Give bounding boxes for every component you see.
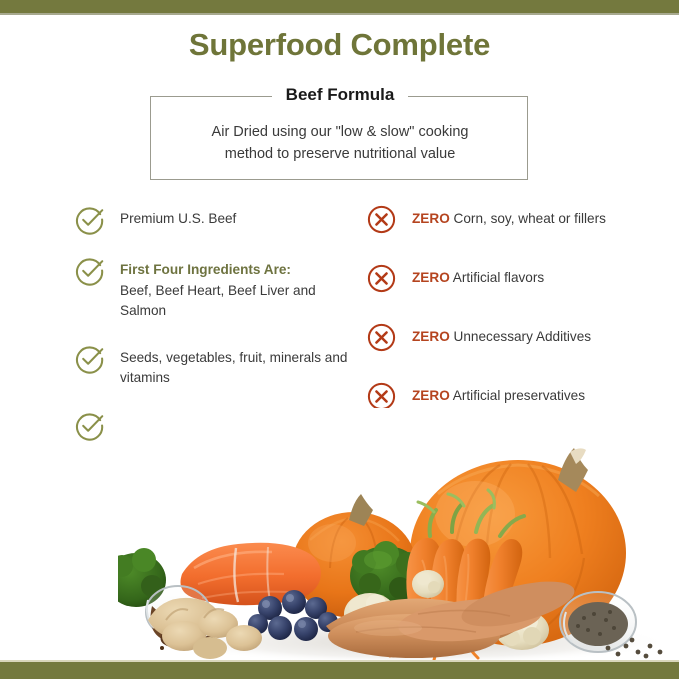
formula-legend-label: Beef Formula xyxy=(272,85,409,105)
bottom-olive-band xyxy=(0,662,679,679)
list-item-text: ZERO Artificial preservatives xyxy=(412,381,664,407)
benefit-text-0: Premium U.S. Beef xyxy=(120,211,236,226)
formula-line-1: Air Dried using our "low & slow" cooking xyxy=(151,121,529,143)
exclusion-text-0: Corn, soy, wheat or fillers xyxy=(454,211,606,226)
list-item-text: ZERO Artificial flavors xyxy=(412,263,664,289)
top-band-rule xyxy=(0,13,679,15)
top-olive-band xyxy=(0,0,679,13)
exclusion-text-1: Artificial flavors xyxy=(453,270,544,285)
exclusion-text-3: Artificial preservatives xyxy=(453,388,585,403)
page-title: Superfood Complete xyxy=(0,27,679,63)
x-circle-icon xyxy=(366,263,397,294)
check-circle-icon xyxy=(74,204,105,235)
list-item: First Four Ingredients Are: Beef, Beef H… xyxy=(72,255,362,322)
list-item-text: Premium U.S. Beef xyxy=(120,204,362,230)
infographic-page: Superfood Complete Beef Formula Air Drie… xyxy=(0,0,679,679)
benefit-text-2: Seeds, vegetables, fruit, minerals and v… xyxy=(120,350,347,386)
exclusion-lead-1: ZERO xyxy=(412,270,450,285)
list-item: ZERO Unnecessary Additives xyxy=(364,322,664,352)
list-item-text: Seeds, vegetables, fruit, minerals and v… xyxy=(120,343,362,389)
list-item: Seeds, vegetables, fruit, minerals and v… xyxy=(72,343,362,389)
exclusion-text-2: Unnecessary Additives xyxy=(454,329,592,344)
benefit-text-1: Beef, Beef Heart, Beef Liver and Salmon xyxy=(120,283,316,319)
formula-box: Beef Formula Air Dried using our "low & … xyxy=(150,96,528,180)
list-item-text: ZERO Corn, soy, wheat or fillers xyxy=(412,204,664,230)
produce-photo: Assorted whole foods: pumpkins, salmon f… xyxy=(118,408,679,664)
list-item: Premium U.S. Beef xyxy=(72,204,362,234)
list-item-text: ZERO Unnecessary Additives xyxy=(412,322,664,348)
exclusions-list: ZERO Corn, soy, wheat or fillers ZERO Ar… xyxy=(364,204,664,440)
check-circle-icon xyxy=(74,255,105,286)
list-item: ZERO Corn, soy, wheat or fillers xyxy=(364,204,664,234)
exclusion-lead-0: ZERO xyxy=(412,211,450,226)
benefit-lead-1: First Four Ingredients Are: xyxy=(120,260,362,281)
formula-line-2: method to preserve nutritional value xyxy=(151,143,529,165)
list-item: ZERO Artificial flavors xyxy=(364,263,664,293)
exclusion-lead-3: ZERO xyxy=(412,388,450,403)
list-item: ZERO Artificial preservatives xyxy=(364,381,664,411)
formula-description: Air Dried using our "low & slow" cooking… xyxy=(151,121,529,165)
formula-legend: Beef Formula xyxy=(151,85,529,105)
x-circle-icon xyxy=(366,322,397,353)
list-item-text: First Four Ingredients Are: Beef, Beef H… xyxy=(120,255,362,322)
check-circle-icon xyxy=(74,410,105,441)
exclusion-lead-2: ZERO xyxy=(412,329,450,344)
x-circle-icon xyxy=(366,204,397,235)
check-circle-icon xyxy=(74,343,105,374)
